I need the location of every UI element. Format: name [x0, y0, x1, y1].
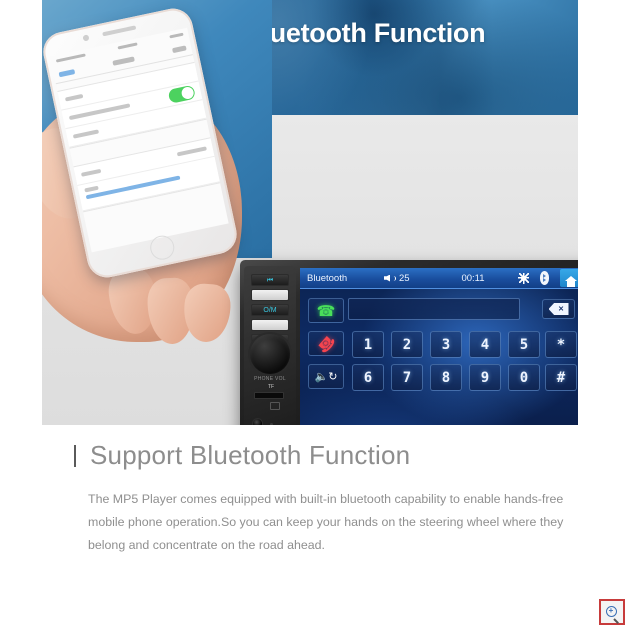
section-heading: Support Bluetooth Function — [42, 440, 578, 471]
sd-card-icon — [270, 402, 280, 410]
key-5[interactable]: 5 — [508, 331, 540, 358]
key-6[interactable]: 6 — [352, 364, 384, 391]
prev-track-button[interactable]: ⏮ — [251, 274, 289, 286]
call-icon: ☎ — [317, 302, 336, 320]
call-button[interactable]: ☎ — [308, 298, 344, 323]
magnifier-handle — [613, 618, 619, 624]
key-3[interactable]: 3 — [430, 331, 462, 358]
home-icon[interactable] — [560, 269, 578, 287]
status-icons — [504, 269, 578, 287]
number-display[interactable] — [348, 298, 520, 320]
product-detail-page: Support Bluetooth Function — [0, 0, 630, 630]
key-star[interactable]: * — [545, 331, 577, 358]
finger — [182, 282, 232, 343]
section-title: Support Bluetooth Function — [90, 440, 410, 471]
speaker-toggle-button[interactable]: 🔈↻ — [308, 364, 344, 389]
hangup-button[interactable]: ☎ — [308, 331, 344, 356]
key-0[interactable]: 0 — [508, 364, 540, 391]
clock: 00:11 — [442, 273, 504, 284]
volume-knob[interactable] — [250, 334, 290, 374]
stereo-touchscreen[interactable]: Bluetooth 25 00:11 — [300, 268, 578, 425]
aux-jack[interactable] — [252, 418, 263, 425]
mode-button[interactable]: O/M — [251, 304, 289, 316]
zoom-button[interactable]: + — [599, 599, 625, 625]
bluetooth-toggle[interactable] — [168, 85, 196, 104]
key-7[interactable]: 7 — [391, 364, 423, 391]
accent-bar — [74, 445, 76, 467]
key-hash[interactable]: # — [545, 364, 577, 391]
reset-pinhole[interactable] — [270, 423, 273, 425]
product-image-block: Support Bluetooth Function — [42, 0, 578, 425]
volume-indicator[interactable]: 25 — [384, 273, 442, 284]
home-glyph — [565, 276, 577, 281]
dialer-pane: ☎ ✕ ☎ 🔈↻ 1 2 3 — [300, 289, 578, 425]
description-section: Support Bluetooth Function The MP5 Playe… — [42, 440, 578, 557]
key-1[interactable]: 1 — [352, 331, 384, 358]
earpiece-speaker — [102, 25, 136, 36]
key-2[interactable]: 2 — [391, 331, 423, 358]
key-9[interactable]: 9 — [469, 364, 501, 391]
magnifier-glyph: + — [606, 606, 617, 617]
key-8[interactable]: 8 — [430, 364, 462, 391]
car-stereo-device: ⏮ O/M ⏭ PHONE VOL TF AUX RES — [240, 260, 578, 425]
product-photo-stage: ⏮ O/M ⏭ PHONE VOL TF AUX RES — [42, 115, 578, 425]
backspace-icon: ✕ — [549, 303, 569, 315]
knob-label: PHONE VOL — [248, 376, 292, 382]
tf-card-slot[interactable] — [254, 392, 284, 399]
bluetooth-icon[interactable] — [540, 271, 549, 285]
backspace-button[interactable]: ✕ — [542, 299, 575, 319]
speaker-swap-icon: 🔈↻ — [315, 370, 338, 383]
magnifier-plus-icon: + — [606, 606, 619, 619]
key-4[interactable]: 4 — [469, 331, 501, 358]
tf-label: TF — [268, 384, 274, 390]
screen-status-bar: Bluetooth 25 00:11 — [300, 268, 578, 289]
hangup-icon: ☎ — [313, 331, 339, 357]
speaker-icon — [384, 274, 396, 283]
blank-button-1[interactable] — [251, 289, 289, 301]
section-body-text: The MP5 Player comes equipped with built… — [42, 488, 578, 557]
stereo-control-panel: ⏮ O/M ⏭ PHONE VOL TF AUX RES — [244, 266, 296, 425]
hand-with-phone-photo — [42, 0, 272, 425]
front-camera — [82, 34, 89, 41]
blank-button-2[interactable] — [251, 319, 289, 331]
volume-value: 25 — [399, 273, 410, 284]
status-title: Bluetooth — [300, 273, 384, 284]
sun-icon[interactable] — [518, 273, 529, 284]
